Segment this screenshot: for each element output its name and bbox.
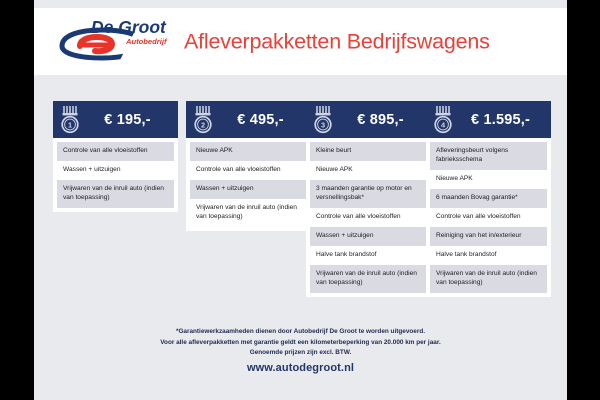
- package-price-3: € 895,-: [334, 112, 431, 128]
- feature-item: Controle van alle vloeistoffen: [310, 208, 427, 227]
- company-logo: De Groot Autobedrijf: [50, 16, 172, 64]
- package-price-1: € 195,-: [81, 112, 178, 128]
- package-card-4[interactable]: 4 € 1.595,- Afleveringsbeurt volgens fab…: [426, 101, 551, 297]
- package-features-2: Nieuwe APK Controle van alle vloeistoffe…: [186, 138, 311, 231]
- package-card-3[interactable]: 3 € 895,- Kleine beurt Nieuwe APK 3 maan…: [306, 101, 431, 297]
- package-card-1[interactable]: 1 € 195,- Controle van alle vloeistoffen…: [53, 101, 178, 212]
- feature-item: Controle van alle vloeistoffen: [57, 142, 174, 161]
- feature-item: Wassen + uitzuigen: [57, 161, 174, 180]
- feature-item: Vrijwaren van de inruil auto (indien van…: [190, 199, 307, 227]
- footnote-line: *Garantiewerkzaamheden dienen door Autob…: [34, 327, 567, 338]
- logo-wordmark: De Groot: [91, 17, 167, 37]
- medal-rank-2-icon: 2: [192, 105, 214, 135]
- feature-item: 3 maanden garantie op motor en versnelli…: [310, 180, 427, 208]
- feature-item: Halve tank brandstof: [430, 246, 547, 265]
- medal-rank-number: 3: [321, 120, 325, 129]
- page-title: Afleverpakketten Bedrijfswagens: [184, 29, 490, 54]
- package-card-2[interactable]: 2 € 495,- Nieuwe APK Controle van alle v…: [186, 101, 311, 231]
- medal-rank-4-icon: 4: [432, 105, 454, 135]
- feature-item: Controle van alle vloeistoffen: [430, 208, 547, 227]
- feature-item: Wassen + uitzuigen: [310, 227, 427, 246]
- feature-item: Reiniging van het in/exterieur: [430, 227, 547, 246]
- page-header: De Groot Autobedrijf Afleverpakketten Be…: [34, 8, 567, 75]
- package-header-1: 1 € 195,-: [53, 101, 178, 138]
- package-card-list: 1 € 195,- Controle van alle vloeistoffen…: [34, 101, 567, 321]
- feature-item: Nieuwe APK: [190, 142, 307, 161]
- medal-rank-number: 2: [201, 120, 205, 129]
- poster-stage: De Groot Autobedrijf Afleverpakketten Be…: [34, 0, 567, 400]
- package-header-2: 2 € 495,-: [186, 101, 311, 138]
- package-features-3: Kleine beurt Nieuwe APK 3 maanden garant…: [306, 138, 431, 297]
- package-price-2: € 495,-: [214, 112, 311, 128]
- package-features-4: Afleveringsbeurt volgens fabrieksschema …: [426, 138, 551, 297]
- feature-item: Halve tank brandstof: [310, 246, 427, 265]
- website-link[interactable]: www.autodegroot.nl: [34, 362, 567, 374]
- medal-rank-1-icon: 1: [59, 105, 81, 135]
- package-header-3: 3 € 895,-: [306, 101, 431, 138]
- package-price-4: € 1.595,-: [454, 112, 551, 128]
- feature-item: Kleine beurt: [310, 142, 427, 161]
- feature-item: 6 maanden Bovag garantie*: [430, 189, 547, 208]
- de-groot-logo-graphic: De Groot Autobedrijf: [50, 16, 172, 64]
- feature-item: Vrijwaren van de inruil auto (indien van…: [57, 180, 174, 208]
- medal-rank-number: 1: [68, 120, 72, 129]
- package-features-1: Controle van alle vloeistoffen Wassen + …: [53, 138, 178, 212]
- feature-item: Controle van alle vloeistoffen: [190, 161, 307, 180]
- feature-item: Nieuwe APK: [310, 161, 427, 180]
- feature-item: Vrijwaren van de inruil auto (indien van…: [310, 265, 427, 293]
- medal-rank-3-icon: 3: [312, 105, 334, 135]
- feature-item: Vrijwaren van de inruil auto (indien van…: [430, 265, 547, 293]
- package-header-4: 4 € 1.595,-: [426, 101, 551, 138]
- footnote-block: *Garantiewerkzaamheden dienen door Autob…: [34, 327, 567, 359]
- footnote-line: Voor alle afleverpakketten met garantie …: [34, 338, 567, 349]
- medal-rank-number: 4: [441, 120, 446, 129]
- footnote-line: Genoemde prijzen zijn excl. BTW.: [34, 348, 567, 359]
- logo-subtitle: Autobedrijf: [125, 37, 168, 46]
- feature-item: Nieuwe APK: [430, 170, 547, 189]
- feature-item: Wassen + uitzuigen: [190, 180, 307, 199]
- feature-item: Afleveringsbeurt volgens fabrieksschema: [430, 142, 547, 170]
